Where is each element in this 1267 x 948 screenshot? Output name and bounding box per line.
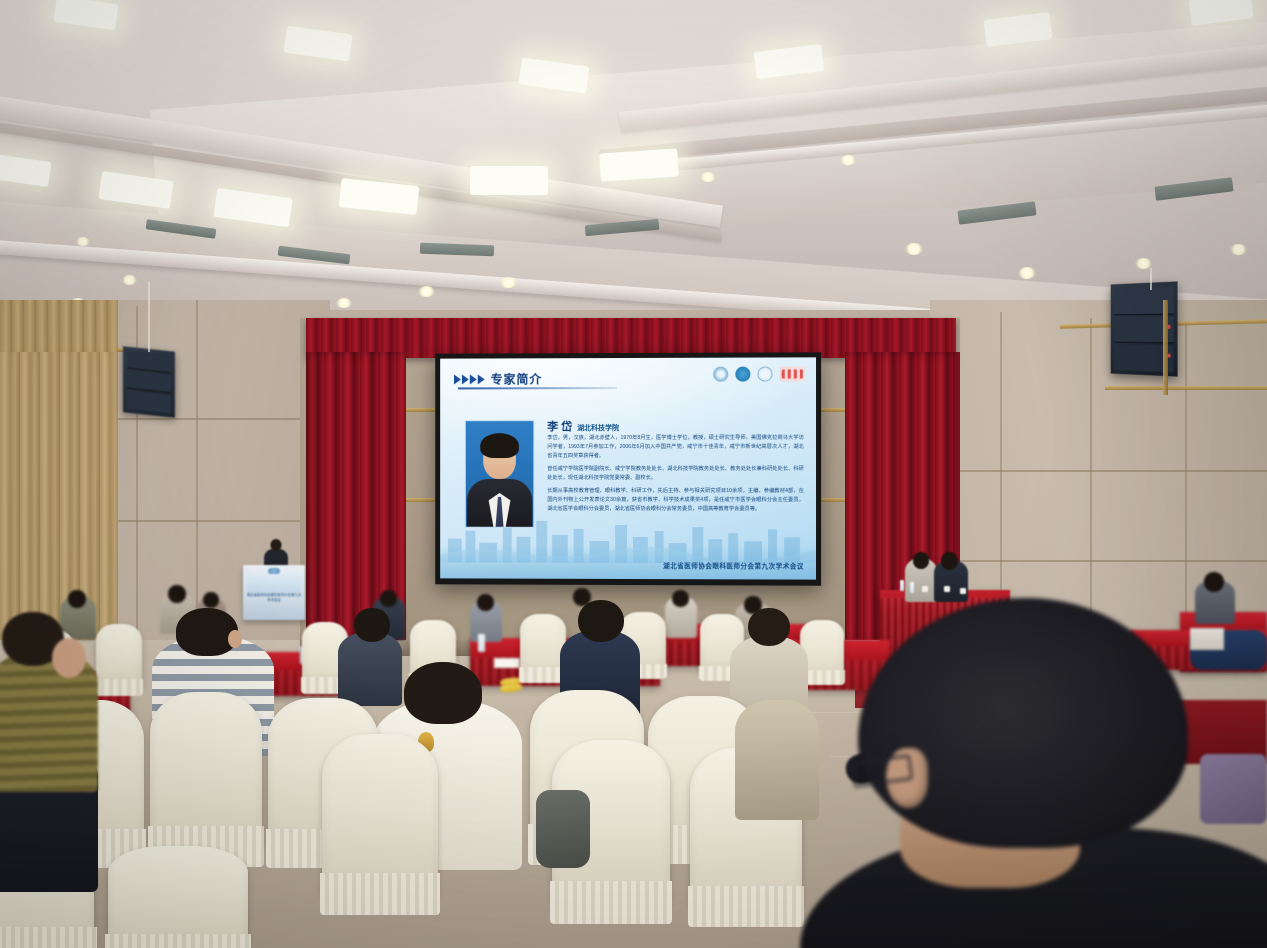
head-table-person-head [913, 552, 929, 569]
podium: 湖北省医师协会眼科医师分会第九次学术会议 [243, 565, 305, 620]
bio-paragraph: 李岱，男，汉族，湖北赤壁人，1970年8月生，医学博士学位，教授，硕士研究生导师… [547, 434, 804, 461]
ceiling-downlight [840, 155, 856, 165]
attendee-head [404, 662, 482, 724]
wall-seam [930, 560, 1267, 562]
attendee-head [68, 590, 86, 608]
chevron-right-icon [454, 374, 485, 384]
ceiling-downlight [336, 298, 352, 308]
attendee-head [672, 590, 689, 607]
anniversary-red-logo [780, 366, 806, 381]
attendee-head [354, 608, 390, 642]
attendee-head [1204, 572, 1224, 592]
institution-round-logo [757, 367, 772, 382]
water-bottle [900, 580, 904, 591]
portrait-hair [480, 433, 519, 458]
tea-cup [960, 588, 966, 594]
banquet-chair [322, 734, 438, 896]
speaker-hanging-cable-right [1150, 268, 1152, 290]
water-bottle [910, 582, 914, 593]
attendee-head [477, 594, 494, 611]
foreground-attendee-hair [858, 598, 1188, 848]
attendee-head [578, 600, 624, 642]
shoulder-bag [536, 790, 590, 868]
head-table-person-head [941, 552, 958, 570]
foreground-left-shirt [0, 652, 98, 792]
line-array-speaker-left [123, 346, 175, 417]
bio-paragraph: 曾任咸宁学院医学院副院长、咸宁学院教务处处长、湖北科技学院教务处处长、教务处处长… [547, 465, 804, 483]
foreground-attendee-left [0, 612, 110, 792]
attendee-head [176, 608, 238, 656]
slide-logo-group [713, 366, 806, 381]
ceiling-downlight [418, 286, 435, 297]
wall-seam [1185, 322, 1187, 642]
blue-round-logo [735, 367, 750, 382]
slide-header: 专家简介 [454, 370, 542, 387]
foreground-attendee [840, 598, 1267, 948]
attendee-head [748, 608, 790, 646]
speaker-portrait-photo [465, 420, 534, 528]
slide-section-title: 专家简介 [491, 370, 543, 387]
speaker-mount-pole-right [1163, 300, 1168, 395]
attendee-head [203, 592, 219, 608]
ceiling-downlight [905, 243, 923, 255]
attendee-dark-top [338, 632, 402, 706]
slide-content: 专家简介 李 岱湖北科技学院 [440, 357, 816, 579]
wall-seam [930, 470, 1267, 472]
wall-seam [118, 520, 308, 522]
presenter-head [271, 539, 282, 551]
attendee-beige-jacket [735, 700, 819, 820]
banquet-chair [108, 846, 248, 948]
ceiling-downlight [1018, 267, 1036, 279]
ceiling-panel-light [470, 166, 548, 195]
speaker-name-line: 李 岱湖北科技学院 [547, 418, 619, 434]
ceiling-panel-light [599, 148, 679, 181]
ceiling-downlight [700, 172, 716, 182]
speaker-bio: 李岱，男，汉族，湖北赤壁人，1970年8月生，医学博士学位，教授，硕士研究生导师… [547, 434, 804, 518]
slide-footer-text: 湖北省医师协会眼科医师分会第九次学术会议 [663, 560, 804, 570]
speaker-hanging-cable-left [148, 282, 150, 352]
banquet-chair [150, 692, 262, 848]
podium-banner-text: 湖北省医师协会眼科医师分会第九次学术会议 [246, 593, 302, 603]
wall-seam [196, 300, 198, 640]
ceiling-downlight [122, 275, 137, 285]
podium-banner [247, 575, 301, 593]
foreground-left-hand [52, 638, 86, 678]
attendee-head [168, 585, 186, 603]
tea-cup [944, 586, 950, 592]
speaker-affiliation: 湖北科技学院 [577, 425, 619, 432]
led-presentation-screen: 专家简介 李 岱湖北科技学院 [435, 352, 821, 585]
attendee-ear [228, 630, 242, 648]
side-curtain-valance [0, 300, 118, 356]
bio-paragraph: 长期从事高校教育管理、眼科教学、科研工作，先后主持、参与相关研究项目10余项，主… [547, 487, 804, 514]
water-bottle [478, 634, 485, 652]
tea-cup [922, 586, 928, 592]
ceiling-downlight [76, 237, 90, 246]
speaker-name: 李 岱 [547, 421, 572, 433]
wall-gold-trim [1105, 386, 1267, 390]
ceiling-downlight [500, 277, 517, 288]
attendee-head [380, 590, 397, 607]
wall-seam [118, 418, 308, 420]
association-seal-logo [713, 367, 728, 382]
conference-hall-photo: 专家简介 李 岱湖北科技学院 [0, 0, 1267, 948]
podium-emblem [268, 568, 280, 574]
ceiling-downlight [1230, 244, 1247, 255]
handout-paper [494, 658, 520, 668]
